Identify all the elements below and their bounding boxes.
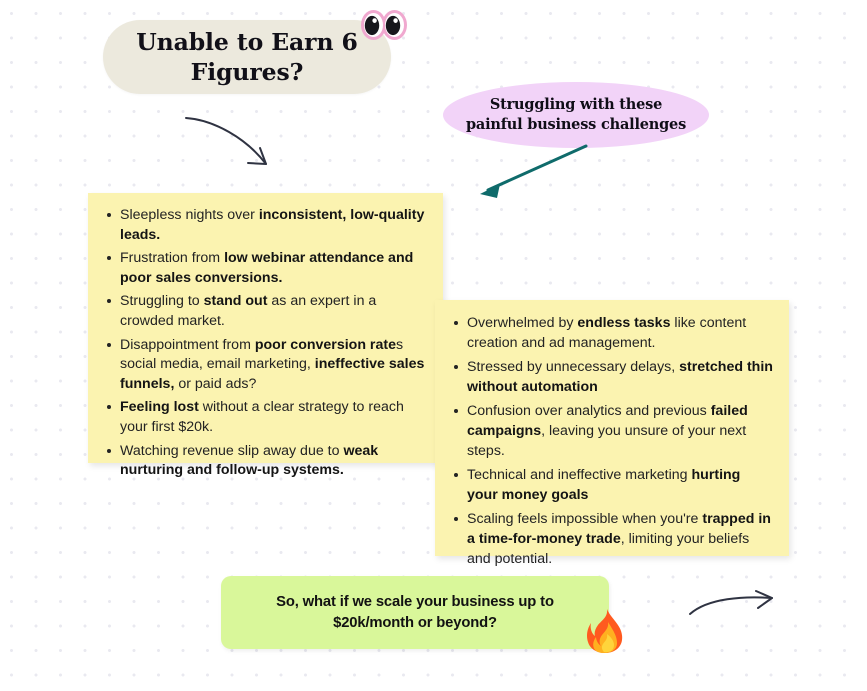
list-item: Disappointment from poor conversion rate… (120, 336, 429, 395)
list-item: Frustration from low webinar attendance … (120, 249, 429, 288)
pain-points-right-card: Overwhelmed by endless tasks like conten… (435, 300, 789, 556)
list-item: Watching revenue slip away due to weak n… (120, 442, 429, 481)
header-pill: Unable to Earn 6 Figures? (103, 20, 391, 94)
pain-points-left-card: Sleepless nights over inconsistent, low-… (88, 193, 443, 463)
page-title: Unable to Earn 6 Figures? (103, 27, 391, 87)
pain-points-left-list: Sleepless nights over inconsistent, low-… (88, 193, 443, 495)
pain-points-right-list: Overwhelmed by endless tasks like conten… (435, 300, 789, 584)
arrow-bubble-to-note-icon (466, 138, 596, 206)
list-item: Overwhelmed by endless tasks like conten… (467, 314, 773, 353)
list-item: Confusion over analytics and previous fa… (467, 402, 773, 461)
cta-box[interactable]: So, what if we scale your business up to… (221, 576, 609, 649)
arrow-cta-right-icon (686, 586, 784, 624)
list-item: Sleepless nights over inconsistent, low-… (120, 206, 429, 245)
challenge-bubble-text: Struggling with these painful business c… (443, 95, 709, 134)
arrow-header-to-note-icon (180, 108, 290, 180)
list-item: Feeling lost without a clear strategy to… (120, 398, 429, 437)
fire-icon (586, 608, 624, 654)
list-item: Stressed by unnecessary delays, stretche… (467, 358, 773, 397)
list-item: Struggling to stand out as an expert in … (120, 292, 429, 331)
slide-canvas: Unable to Earn 6 Figures? Struggling wit… (0, 0, 867, 691)
list-item: Technical and ineffective marketing hurt… (467, 466, 773, 505)
cta-text: So, what if we scale your business up to… (221, 592, 609, 633)
list-item: Scaling feels impossible when you're tra… (467, 510, 773, 569)
eyes-icon (360, 7, 408, 43)
challenge-bubble: Struggling with these painful business c… (443, 82, 709, 148)
